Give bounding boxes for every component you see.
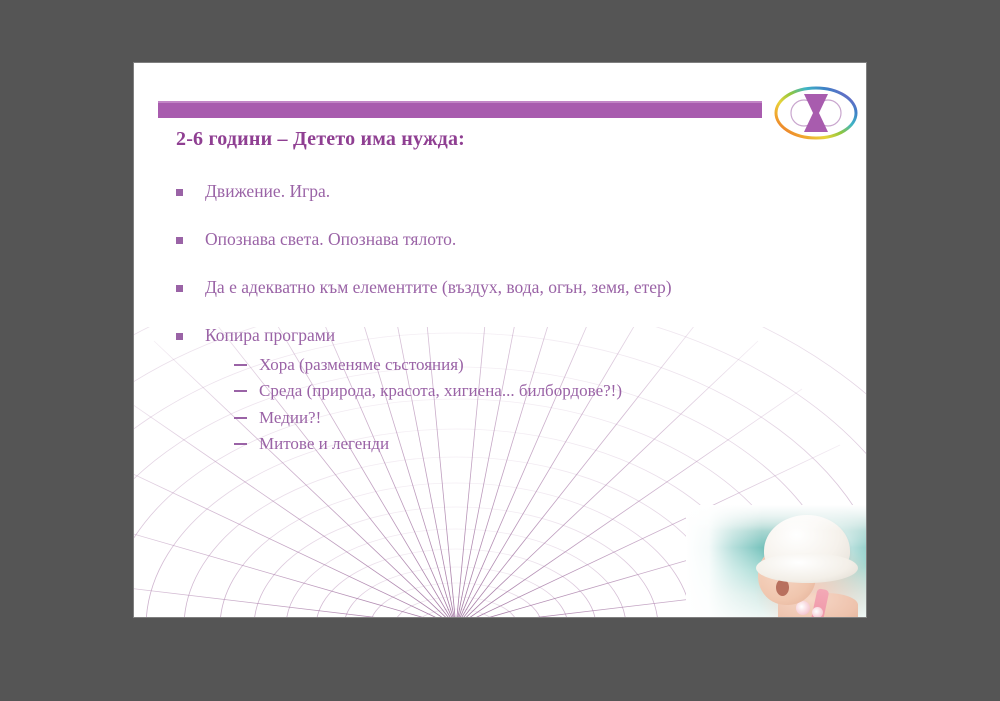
bullet-item: Движение. Игра. <box>176 181 826 203</box>
bullet-text: Опознава света. Опознава тялото. <box>205 229 456 249</box>
bullet-square-icon <box>176 237 183 244</box>
sub-bullet-item: Хора (разменяме състояния) <box>234 353 622 378</box>
sub-bullet-item: Митове и легенди <box>234 432 622 457</box>
logo-hourglass-shape <box>804 94 828 132</box>
bullet-item: Копира програми Хора (разменяме състояни… <box>176 325 826 457</box>
sub-bullet-text: Хора (разменяме състояния) <box>259 353 464 378</box>
slide-title: 2-6 години – Детето има нужда: <box>176 128 465 151</box>
title-accent-bar <box>158 101 762 118</box>
presentation-slide: 2-6 години – Детето има нужда: Движение.… <box>134 63 866 617</box>
bullet-square-icon <box>176 333 183 340</box>
rainbow-ellipse-logo <box>772 84 860 142</box>
bullet-text: Копира програми <box>205 325 335 345</box>
screen-canvas: 2-6 години – Детето има нужда: Движение.… <box>0 0 1000 701</box>
dash-icon <box>234 390 247 392</box>
sub-bullet-item: Среда (природа, красота, хигиена... билб… <box>234 379 622 404</box>
slide-bullet-list: Движение. Игра. Опознава света. Опознава… <box>176 181 826 457</box>
bullet-item: Да е адекватно към елементите (въздух, в… <box>176 277 826 299</box>
bullet-text: Движение. Игра. <box>205 181 330 201</box>
dash-icon <box>234 364 247 366</box>
bullet-square-icon <box>176 189 183 196</box>
sub-bullet-text: Медии?! <box>259 406 321 431</box>
sub-bullet-text: Среда (природа, красота, хигиена... билб… <box>259 379 622 404</box>
slide-content-layer: 2-6 години – Детето има нужда: Движение.… <box>134 63 866 617</box>
sub-bullet-text: Митове и легенди <box>259 432 389 457</box>
sub-bullet-list: Хора (разменяме състояния) Среда (природ… <box>234 353 622 458</box>
bullet-square-icon <box>176 285 183 292</box>
sub-bullet-item: Медии?! <box>234 406 622 431</box>
bullet-item: Опознава света. Опознава тялото. <box>176 229 826 251</box>
bullet-text: Да е адекватно към елементите (въздух, в… <box>205 277 672 297</box>
dash-icon <box>234 417 247 419</box>
dash-icon <box>234 443 247 445</box>
